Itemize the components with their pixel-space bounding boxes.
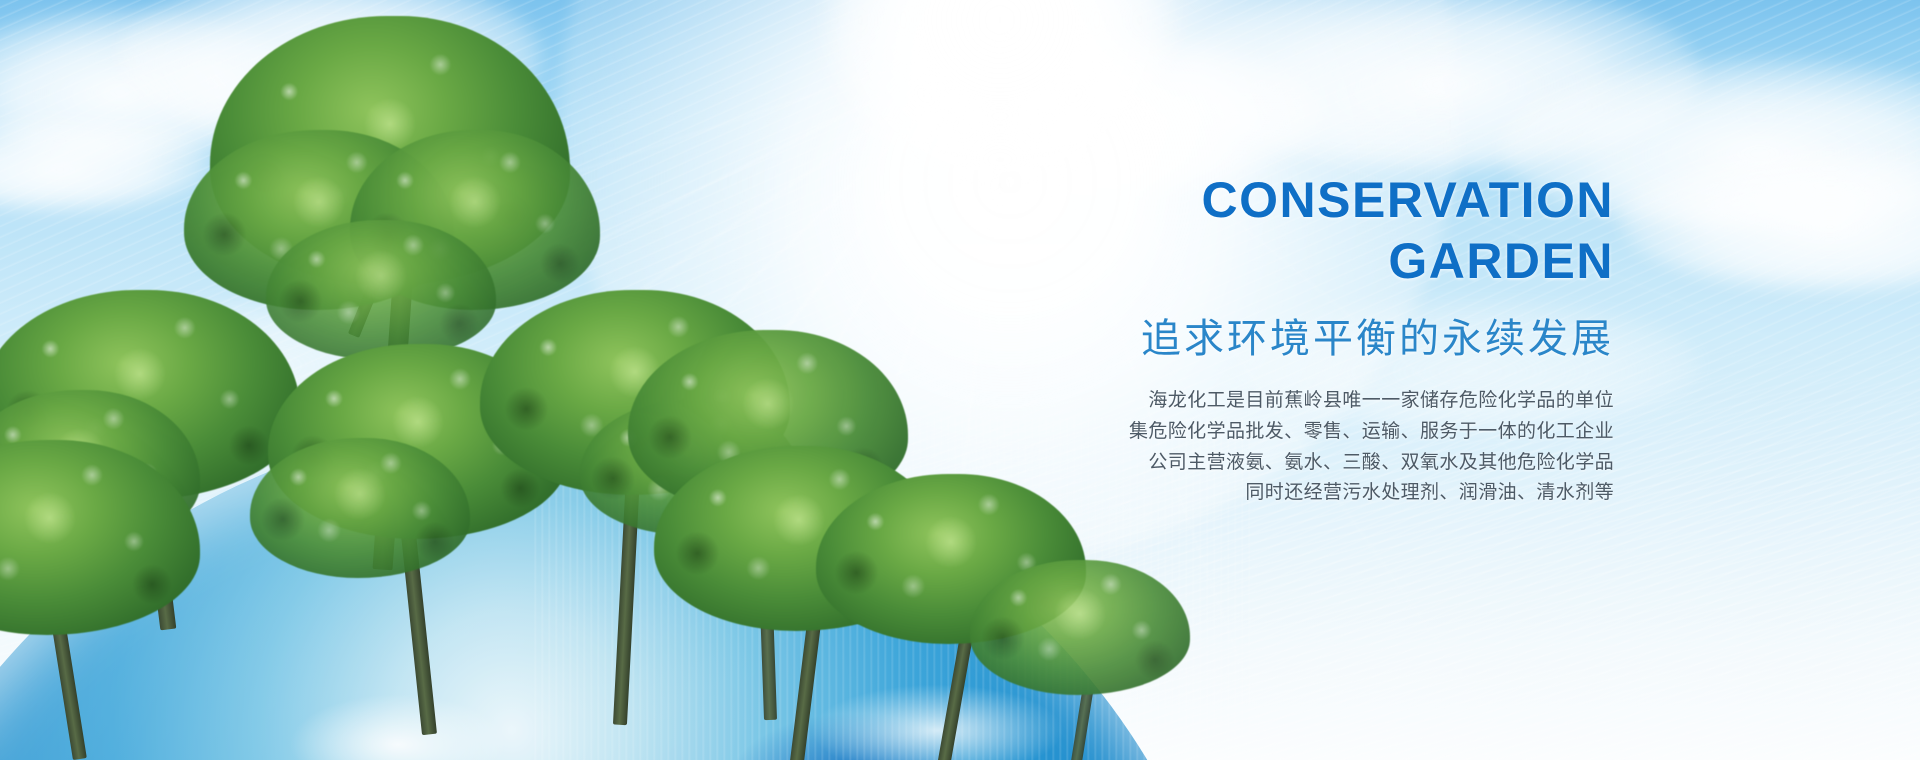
headline-line-1: CONSERVATION (1054, 170, 1614, 231)
description-line: 集危险化学品批发、零售、运输、服务于一体的化工企业 (1054, 417, 1614, 448)
conservation-garden-banner: CONSERVATION GARDEN 追求环境平衡的永续发展 海龙化工是目前蕉… (0, 0, 1920, 760)
banner-copy: CONSERVATION GARDEN 追求环境平衡的永续发展 海龙化工是目前蕉… (1054, 170, 1614, 509)
description-line: 海龙化工是目前蕉岭县唯一一家储存危险化学品的单位 (1054, 386, 1614, 417)
description-line: 同时还经营污水处理剂、润滑油、清水剂等 (1054, 478, 1614, 509)
description-block: 海龙化工是目前蕉岭县唯一一家储存危险化学品的单位 集危险化学品批发、零售、运输、… (1054, 386, 1614, 509)
subtitle: 追求环境平衡的永续发展 (1054, 314, 1614, 364)
headline-line-2: GARDEN (1054, 231, 1614, 292)
description-line: 公司主营液氨、氨水、三酸、双氧水及其他危险化学品 (1054, 448, 1614, 479)
page-title: CONSERVATION GARDEN (1054, 170, 1614, 292)
